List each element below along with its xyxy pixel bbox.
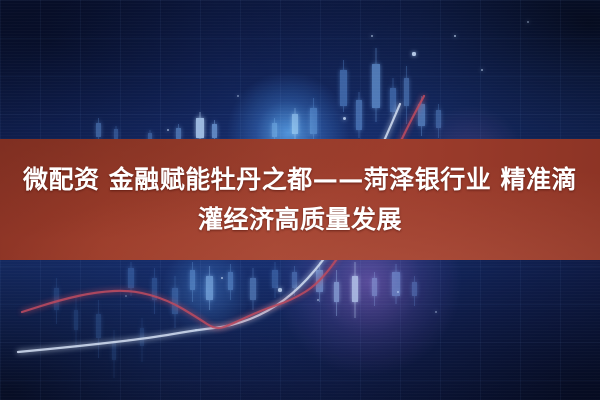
candlestick: [140, 318, 144, 362]
candlestick: [292, 108, 298, 142]
particle-dot: [397, 291, 400, 294]
particle-dot: [125, 295, 127, 297]
candlestick: [412, 276, 417, 306]
particle-dot: [237, 95, 239, 97]
candlestick: [152, 268, 157, 314]
candlestick: [390, 78, 396, 122]
candlestick: [334, 270, 339, 316]
candlestick: [418, 96, 425, 136]
candlestick: [190, 262, 195, 302]
candlestick: [292, 266, 297, 296]
news-banner-image: 微配资 金融赋能牡丹之都——菏泽银行业 精准滴 灌经济高质量发展: [0, 0, 600, 400]
candlestick: [54, 278, 59, 324]
particle-dot: [435, 311, 437, 313]
candlestick: [436, 104, 441, 138]
headline-banner: 微配资 金融赋能牡丹之都——菏泽银行业 精准滴 灌经济高质量发展: [0, 139, 600, 260]
candlestick: [172, 276, 178, 328]
particle-dot: [412, 52, 415, 55]
candlestick: [128, 262, 134, 296]
particle-dot: [195, 329, 197, 331]
candlestick: [316, 262, 323, 302]
candlestick: [372, 48, 380, 122]
particle-dot: [317, 299, 319, 301]
headline-text: 微配资 金融赋能牡丹之都——菏泽银行业 精准滴 灌经济高质量发展: [20, 160, 580, 240]
particle-dot: [221, 277, 224, 280]
candlestick: [404, 66, 409, 124]
particle-dot: [527, 21, 529, 23]
particle-dot: [167, 129, 170, 132]
particle-dot: [454, 35, 456, 37]
candlestick: [74, 296, 78, 348]
candlestick: [206, 266, 213, 310]
candlestick: [310, 98, 317, 142]
particle-dot: [371, 35, 373, 37]
candlestick: [112, 330, 116, 378]
candlestick: [352, 262, 358, 318]
headline-line-2: 灌经济高质量发展: [20, 200, 580, 240]
candlestick: [340, 60, 347, 112]
particle-dot: [278, 288, 281, 291]
headline-line-1: 微配资 金融赋能牡丹之都——菏泽银行业 精准滴: [20, 160, 580, 200]
particle-dot: [343, 117, 346, 120]
candlestick: [356, 92, 362, 138]
candlestick: [272, 262, 278, 298]
candlestick: [372, 272, 377, 306]
candlestick: [96, 300, 101, 358]
particle-dot: [481, 69, 484, 72]
candlestick: [392, 264, 400, 304]
candlestick: [228, 264, 233, 300]
candlestick: [250, 268, 256, 310]
